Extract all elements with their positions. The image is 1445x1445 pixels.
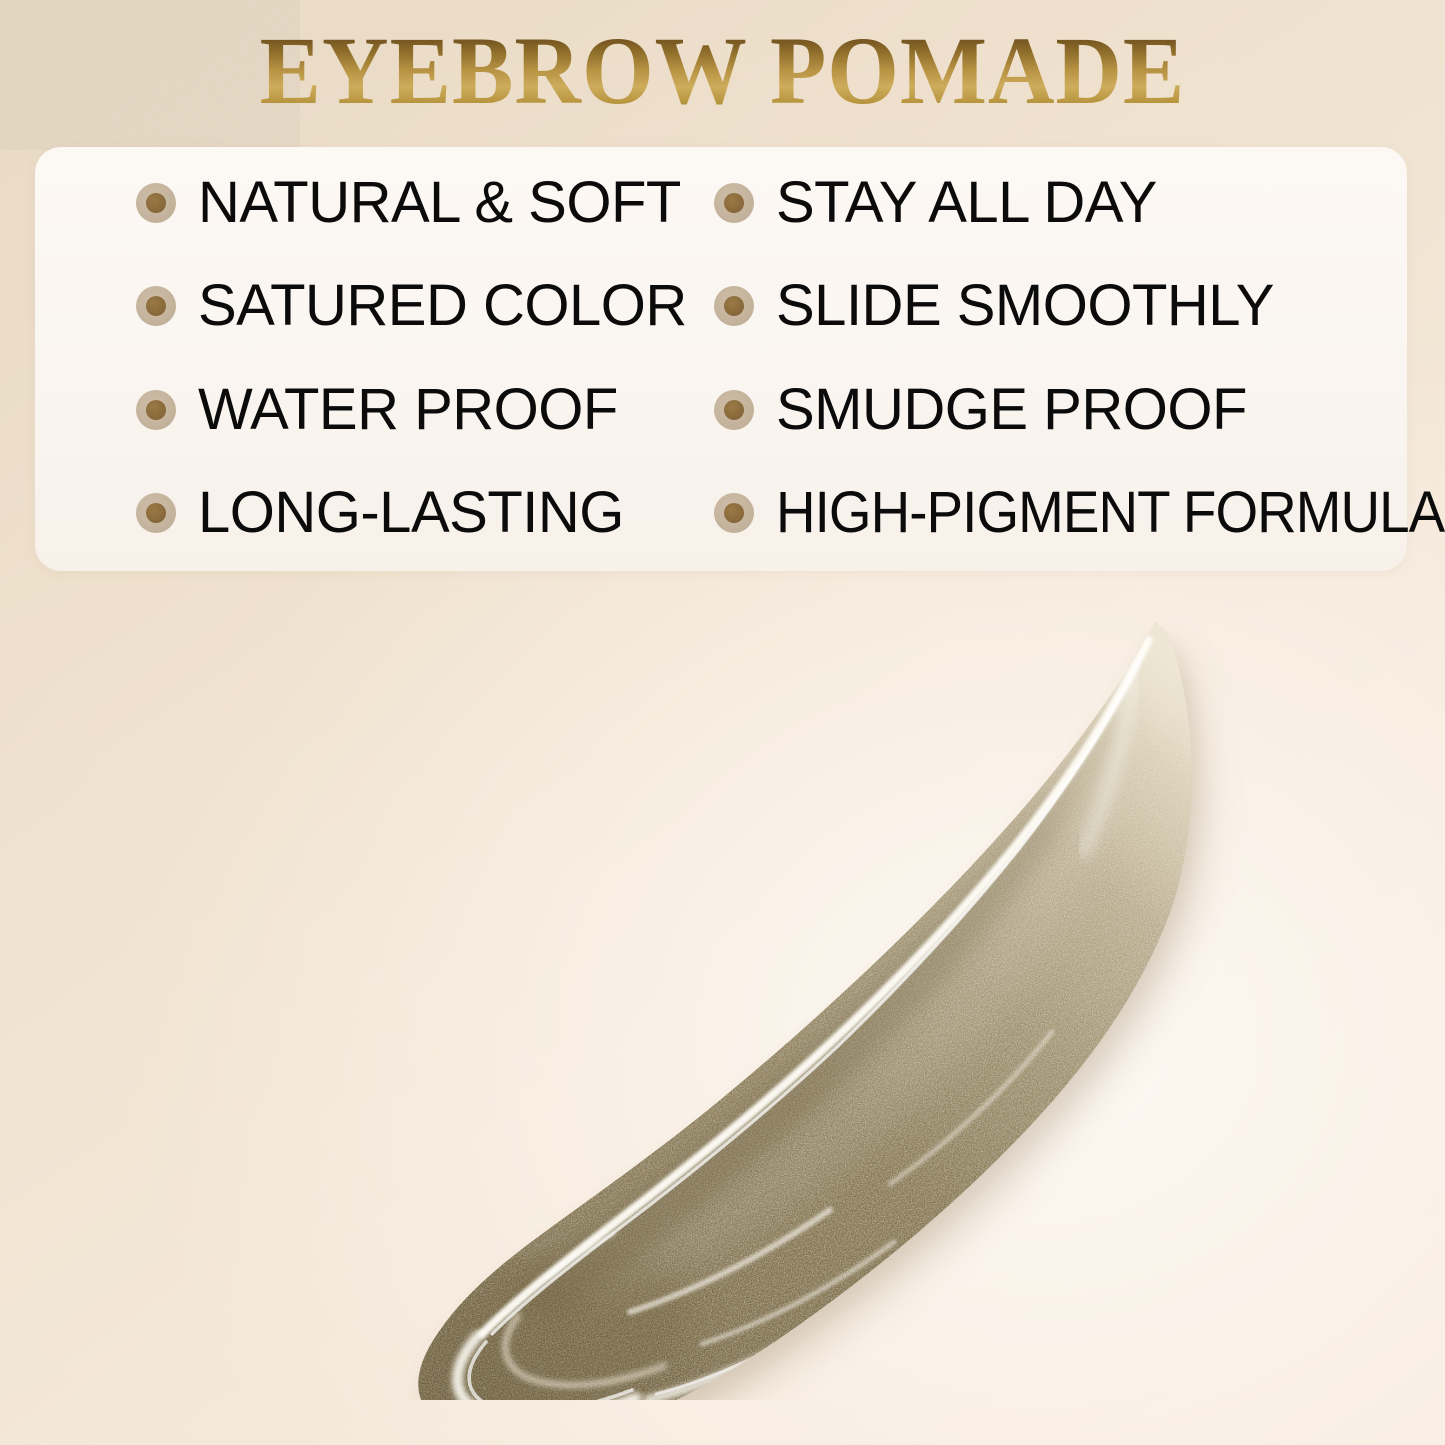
bullet-dot-icon (136, 183, 176, 223)
feature-label: SMUDGE PROOF (776, 381, 1247, 439)
poster-canvas: EYEBROW POMADE NATURAL & SOFT STAY ALL D… (0, 0, 1445, 1445)
feature-label: HIGH-PIGMENT FORMULA (776, 484, 1444, 542)
feature-item-natural-and-soft: NATURAL & SOFT (35, 174, 702, 232)
feature-grid: NATURAL & SOFT STAY ALL DAY SATURED COLO… (35, 147, 1407, 571)
bullet-dot-icon (136, 286, 176, 326)
bullet-dot-icon (714, 390, 754, 430)
bullet-dot-icon (714, 493, 754, 533)
feature-item-water-proof: WATER PROOF (35, 381, 702, 439)
bullet-dot-icon (136, 390, 176, 430)
feature-label: WATER PROOF (198, 381, 618, 439)
feature-item-satured-color: SATURED COLOR (35, 277, 702, 335)
feature-label: NATURAL & SOFT (198, 174, 681, 232)
feature-item-long-lasting: LONG-LASTING (35, 484, 702, 542)
feature-item-high-pigment-formula: HIGH-PIGMENT FORMULA (702, 484, 1407, 542)
feature-card: NATURAL & SOFT STAY ALL DAY SATURED COLO… (35, 147, 1407, 571)
bullet-dot-icon (136, 493, 176, 533)
feature-item-smudge-proof: SMUDGE PROOF (702, 381, 1407, 439)
feature-label: LONG-LASTING (198, 484, 624, 542)
feature-label: SLIDE SMOOTHLY (776, 277, 1274, 335)
feature-label: SATURED COLOR (198, 277, 687, 335)
pomade-smear-swatch (250, 600, 1260, 1400)
feature-label: STAY ALL DAY (776, 174, 1157, 232)
bullet-dot-icon (714, 183, 754, 223)
feature-item-slide-smoothly: SLIDE SMOOTHLY (702, 277, 1407, 335)
product-swatch (250, 600, 1260, 1400)
page-title: EYEBROW POMADE (29, 22, 1416, 120)
feature-item-stay-all-day: STAY ALL DAY (702, 174, 1407, 232)
bullet-dot-icon (714, 286, 754, 326)
